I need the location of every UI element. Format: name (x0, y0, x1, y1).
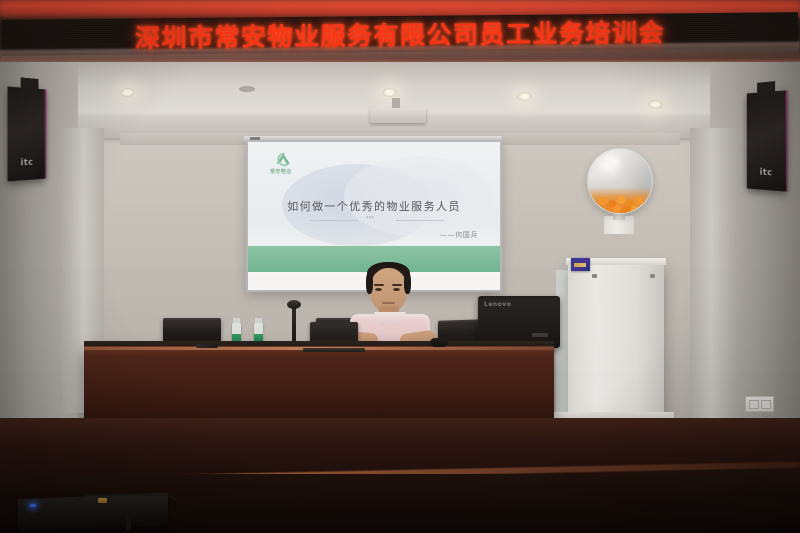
mouse (430, 338, 448, 347)
lottery-balls (588, 187, 652, 213)
bottle-cap (255, 318, 262, 323)
power-led-indicator (30, 504, 36, 507)
slide-author: ——何国兵 (440, 230, 478, 240)
foreground-gold-connector (98, 498, 107, 503)
wall-speaker-right: itc (747, 90, 787, 191)
white-podium (568, 262, 664, 420)
monitor-brand-label: Lenovo (484, 301, 511, 308)
presenter-hair-side-right (404, 272, 411, 294)
podium-hinge-right (650, 274, 655, 278)
ceiling-downlight-3 (517, 92, 532, 101)
presenter-eye-right (393, 288, 400, 291)
led-banner-text-wrap: 深圳市常安物业服务有限公司员工业务培训会 (0, 10, 800, 58)
blue-gift-box (571, 258, 590, 271)
laptop-base (303, 348, 365, 352)
microphone-head (287, 300, 301, 309)
slide-decor-ellipse-right (344, 156, 494, 236)
company-logo-text: 常安物业 (270, 168, 292, 175)
logo-swoosh-icon (274, 152, 294, 167)
ceiling-downlight-1 (120, 88, 135, 97)
presenter-brow-left (374, 284, 384, 286)
slide-rule-left (310, 220, 358, 221)
monitor-badge (532, 333, 548, 337)
wall-socket[interactable] (745, 396, 774, 412)
presenter-brow-right (392, 284, 402, 286)
presenter-desk (84, 346, 554, 418)
speaker-brand-label-left: itc (8, 157, 46, 169)
ceiling-projector (370, 108, 426, 123)
wall-speaker-left: itc (8, 87, 46, 182)
speaker-bracket (21, 77, 39, 90)
slide-subtitle: *** (366, 216, 374, 222)
training-room-photo: itc itc 常安物业 如何做一个优秀的物业服务人员 *** ——何国兵 (0, 0, 800, 533)
slide-title: 如何做一个优秀的物业服务人员 (248, 198, 500, 214)
speaker-brand-label-right: itc (747, 167, 787, 179)
led-banner-text: 深圳市常安物业服务有限公司员工业务培训会 (135, 13, 665, 55)
bottle-cap (233, 318, 240, 323)
presenter-eye-left (375, 288, 382, 291)
presenter-hair-side-left (366, 272, 373, 294)
remote-control (196, 344, 218, 348)
led-banner: 深圳市常安物业服务有限公司员工业务培训会 (0, 0, 800, 62)
podium-hinge-left (592, 274, 597, 278)
right-pillar (690, 128, 738, 418)
speaker-bracket (757, 81, 775, 95)
presenter-mouth (382, 302, 395, 304)
smoke-detector-icon (239, 86, 255, 92)
globe-highlight (598, 153, 622, 173)
ceiling-downlight-2 (382, 88, 397, 97)
company-logo: 常安物业 (268, 152, 320, 178)
lottery-globe (587, 148, 653, 214)
ceiling-downlight-4 (648, 100, 663, 109)
slide-rule-right (396, 220, 444, 221)
foreground-stand (126, 510, 131, 530)
globe-pedestal-lower (596, 232, 642, 264)
